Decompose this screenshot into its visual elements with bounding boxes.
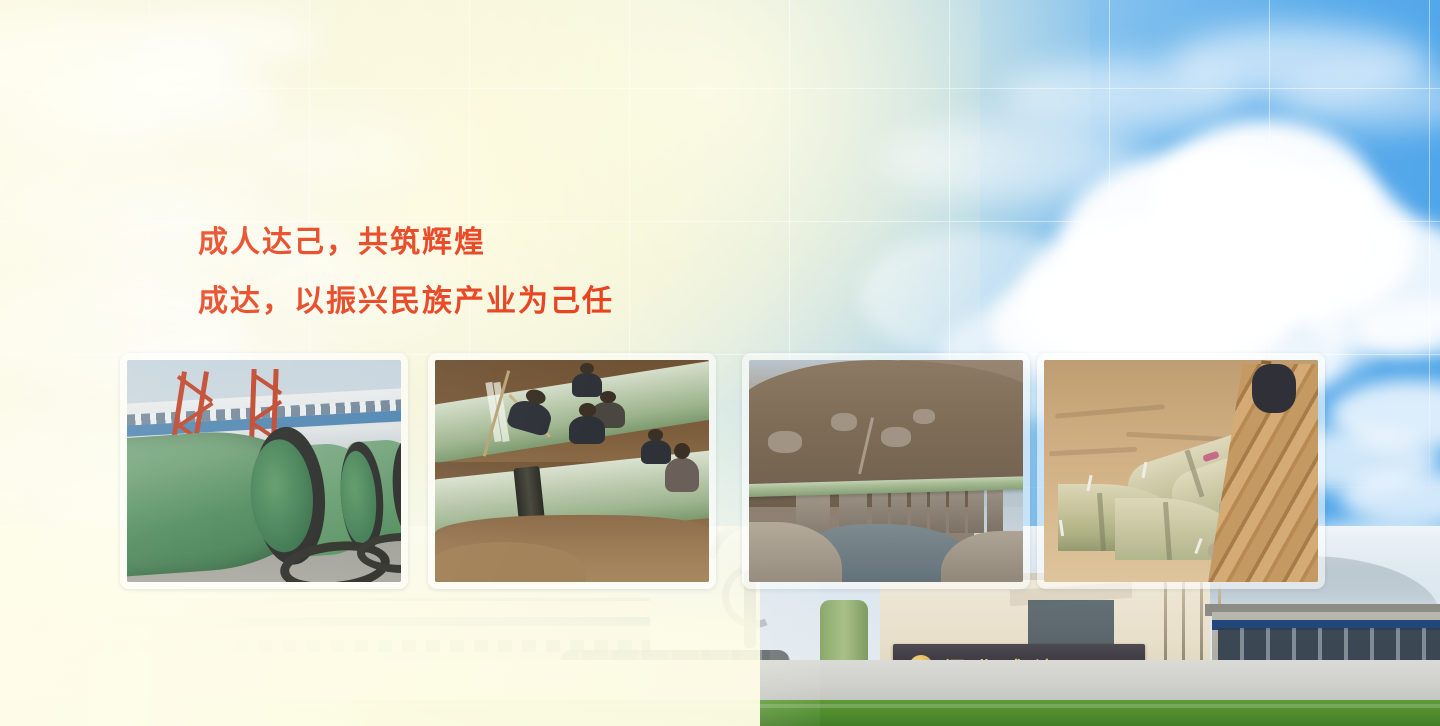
hero-banner: 河北成达 成人达己，共筑辉煌 成达，以振兴民族产业为己任 bbox=[0, 0, 1440, 726]
slogan-line-1: 成人达己，共筑辉煌 bbox=[198, 228, 614, 258]
slogan-line-2: 成达，以振兴民族产业为己任 bbox=[198, 287, 614, 317]
photo-card-3[interactable] bbox=[742, 353, 1030, 589]
green-frp-pipes-factory-yard-image bbox=[127, 360, 401, 582]
curved-pipes-sand-excavation-image bbox=[1044, 360, 1318, 582]
workers-installing-pipes-trench-image bbox=[435, 360, 709, 582]
slogan-block: 成人达己，共筑辉煌 成达，以振兴民族产业为己任 bbox=[198, 228, 614, 317]
pipeline-bridge-mountain-stream-image bbox=[749, 360, 1023, 582]
photo-card-2[interactable] bbox=[428, 353, 716, 589]
photo-card-1[interactable] bbox=[120, 353, 408, 589]
photo-card-4[interactable] bbox=[1037, 353, 1325, 589]
